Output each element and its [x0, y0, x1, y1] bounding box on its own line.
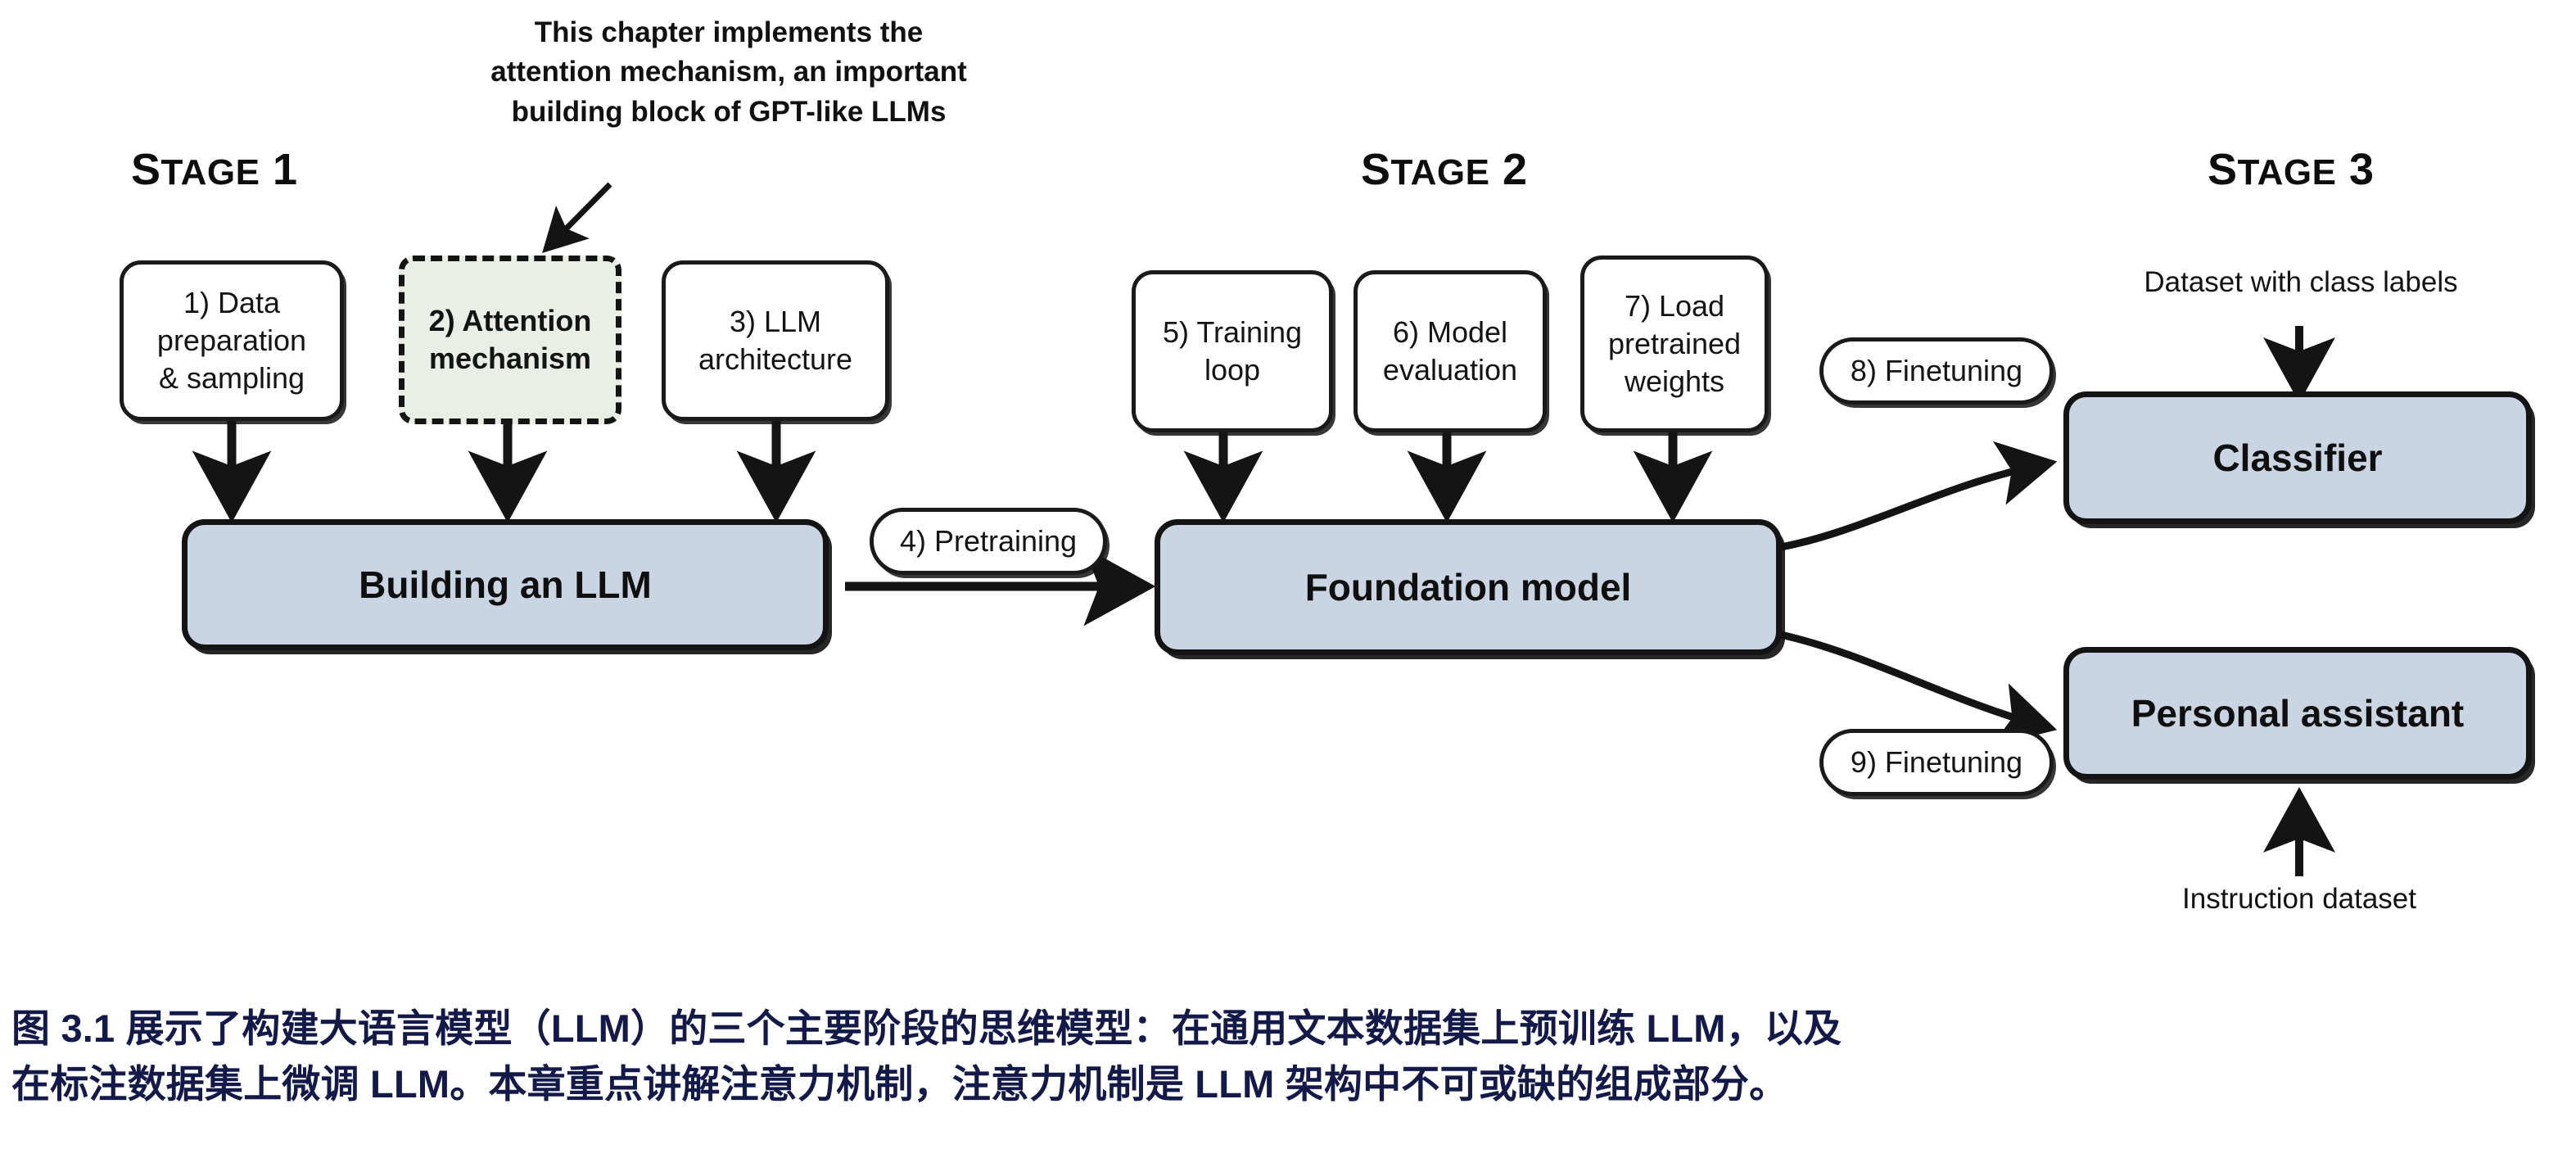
pill-pretraining[interactable]: 4) Pretraining	[870, 508, 1107, 575]
step-box-attention-mechanism[interactable]: 2) Attention mechanism	[399, 256, 621, 424]
dataset-with-class-labels-label: Dataset with class labels	[2096, 266, 2506, 299]
step-box-llm-architecture[interactable]: 3) LLM architecture	[662, 260, 889, 421]
chapter-callout: This chapter implements the attention me…	[442, 13, 1015, 132]
step-box-data-preparation[interactable]: 1) Data preparation & sampling	[120, 260, 344, 421]
stage-2-heading-num: 2	[1490, 145, 1528, 194]
classifier-box[interactable]: Classifier	[2063, 391, 2532, 524]
stage-3-heading-rest: TAGE	[2238, 152, 2337, 192]
pill-finetuning-assistant[interactable]: 9) Finetuning	[1819, 729, 2054, 796]
step-box-load-pretrained-weights[interactable]: 7) Load pretrained weights	[1580, 256, 1769, 432]
callout-arrow	[547, 184, 610, 248]
stage-3-heading: STAGE 3	[2208, 147, 2375, 192]
building-an-llm-box[interactable]: Building an LLM	[182, 519, 829, 650]
stage-2-heading: STAGE 2	[1361, 147, 1528, 192]
stage-2-heading-lead: S	[1361, 145, 1391, 194]
personal-assistant-box[interactable]: Personal assistant	[2063, 647, 2532, 780]
step-box-training-loop[interactable]: 5) Training loop	[1132, 270, 1333, 432]
step-box-model-evaluation[interactable]: 6) Model evaluation	[1354, 270, 1547, 432]
arrow-foundation-to-assistant	[1781, 635, 2047, 727]
stage-1-heading: STAGE 1	[131, 147, 298, 192]
pill-finetuning-classifier[interactable]: 8) Finetuning	[1819, 337, 2054, 405]
figure-caption-line-1: 图 3.1 展示了构建大语言模型（LLM）的三个主要阶段的思维模型：在通用文本数…	[11, 1001, 2566, 1056]
stage-3-heading-num: 3	[2337, 145, 2375, 194]
stage-1-heading-num: 1	[260, 145, 298, 194]
stage-2-heading-rest: TAGE	[1391, 152, 1490, 192]
figure-caption-line-2: 在标注数据集上微调 LLM。本章重点讲解注意力机制，注意力机制是 LLM 架构中…	[11, 1056, 2566, 1112]
instruction-dataset-label: Instruction dataset	[2135, 883, 2463, 916]
foundation-model-box[interactable]: Foundation model	[1155, 519, 1782, 655]
stage-3-heading-lead: S	[2208, 145, 2238, 194]
figure-caption: 图 3.1 展示了构建大语言模型（LLM）的三个主要阶段的思维模型：在通用文本数…	[11, 1001, 2566, 1112]
figure-canvas: This chapter implements the attention me…	[0, 0, 2576, 1158]
stage-1-heading-rest: TAGE	[161, 152, 260, 192]
arrow-foundation-to-classifier	[1781, 464, 2047, 547]
stage-1-heading-lead: S	[131, 145, 161, 194]
